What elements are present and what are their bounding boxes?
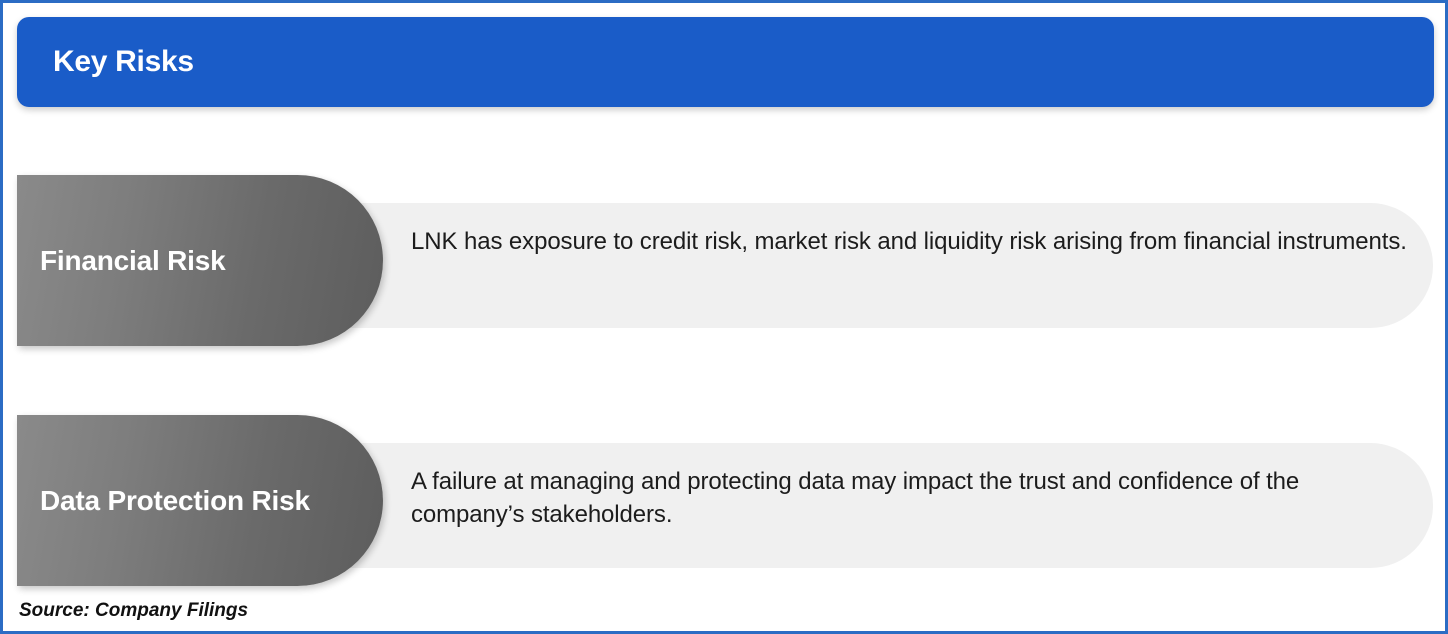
page-title: Key Risks <box>53 45 194 79</box>
risk-row: A failure at managing and protecting dat… <box>3 415 1448 627</box>
risk-label-pill: Financial Risk <box>17 175 383 346</box>
risk-label-text: Financial Risk <box>40 241 226 280</box>
risk-label-text: Data Protection Risk <box>40 481 310 520</box>
risk-row: LNK has exposure to credit risk, market … <box>3 175 1448 387</box>
source-note: Source: Company Filings <box>19 600 248 622</box>
header-banner: Key Risks <box>17 17 1434 107</box>
key-risks-slide: Key Risks LNK has exposure to credit ris… <box>0 0 1448 634</box>
risk-description-text: A failure at managing and protecting dat… <box>411 465 1411 531</box>
risk-label-pill: Data Protection Risk <box>17 415 383 586</box>
risk-description-text: LNK has exposure to credit risk, market … <box>411 225 1411 258</box>
